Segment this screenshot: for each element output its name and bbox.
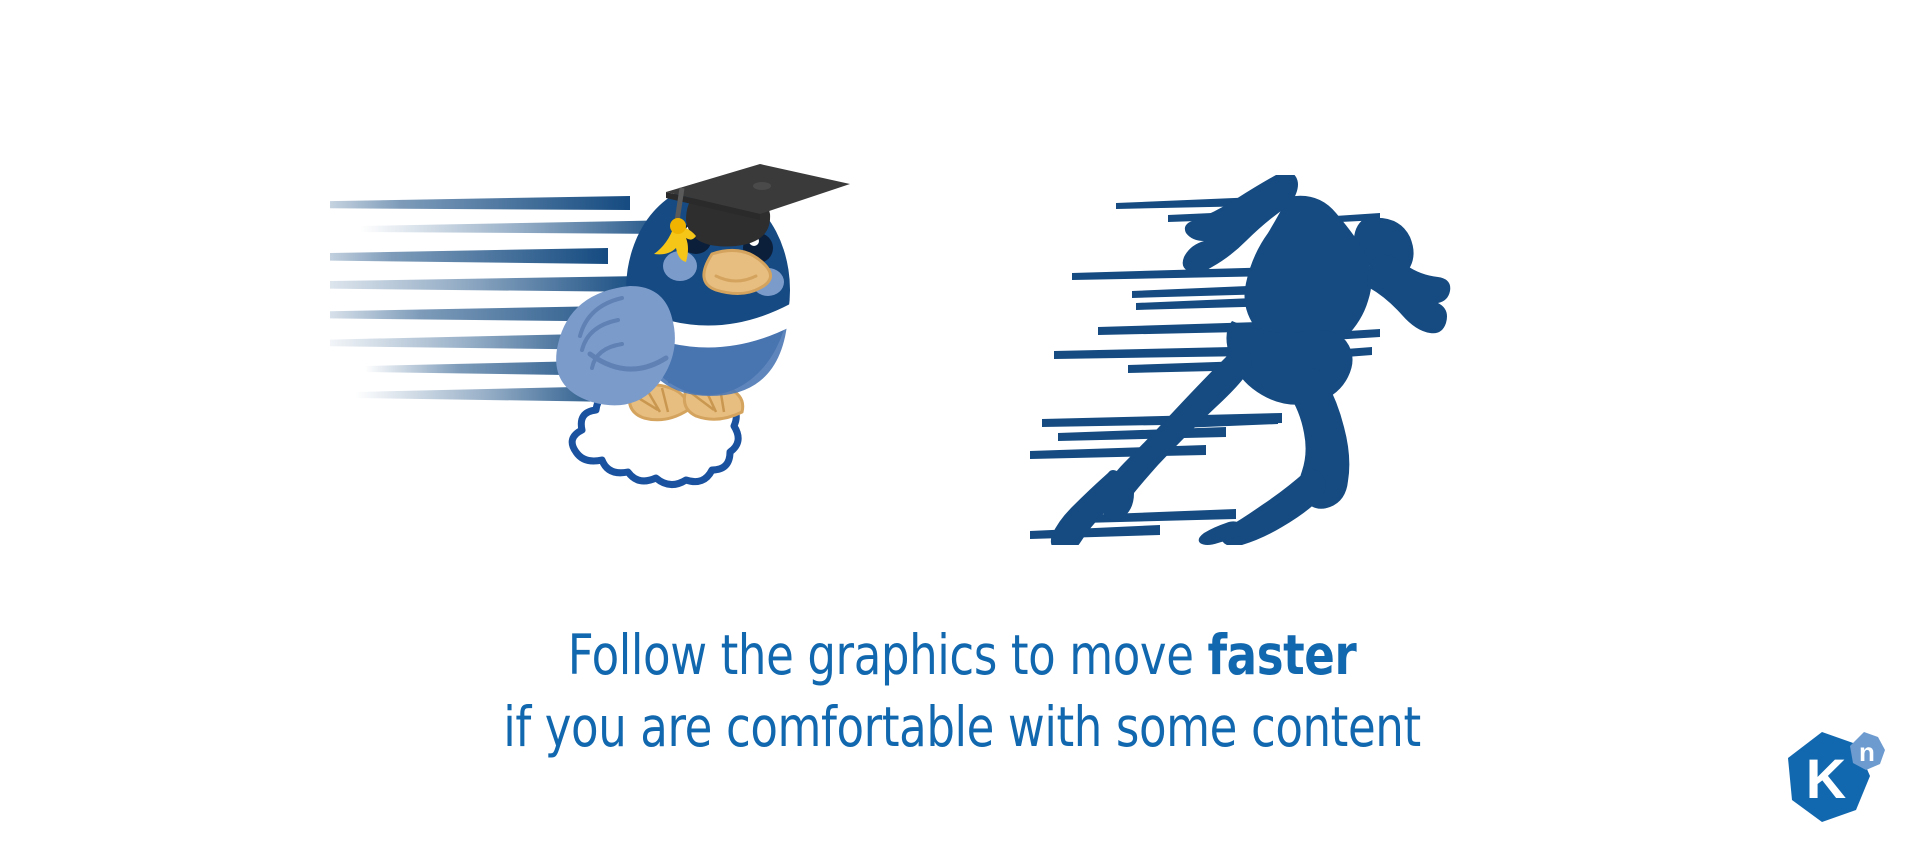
- logo-letter-k: K: [1806, 747, 1846, 810]
- caption-text: Follow the graphics to move faster if yo…: [0, 620, 1924, 763]
- sprinting-runner-graphic: [1020, 175, 1480, 545]
- brand-logo[interactable]: K n: [1780, 726, 1890, 832]
- graphics-illustration-band: [0, 0, 1924, 560]
- caption-line-1-prefix: Follow the graphics to move: [568, 623, 1208, 687]
- caption-line-1: Follow the graphics to move faster: [173, 620, 1751, 692]
- caption-line-2: if you are comfortable with some content: [173, 692, 1751, 764]
- logo-letter-n: n: [1859, 737, 1875, 767]
- caption-emphasis-faster: faster: [1207, 623, 1356, 687]
- runner-silhouette: [1051, 175, 1450, 545]
- graduate-bird-graphic: [330, 160, 1010, 520]
- slide-canvas: Follow the graphics to move faster if yo…: [0, 0, 1924, 852]
